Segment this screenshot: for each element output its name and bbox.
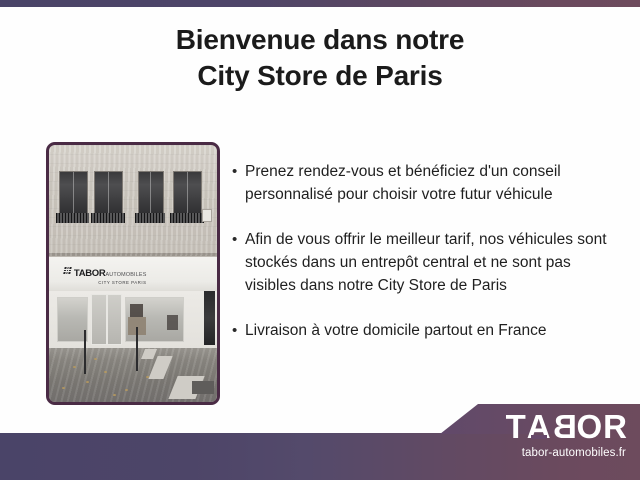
building-window [173,171,202,217]
shop-sign-brand: TABOR [74,268,106,279]
tabor-logo-letter-o: O [576,409,603,445]
shop-fascia: TABORAUTOMOBILES CITY STORE PARIS [49,256,217,294]
balcony-railing [170,213,204,223]
storefront-photo: TABORAUTOMOBILES CITY STORE PARIS [46,142,220,405]
bullet-text: Livraison à votre domicile partout en Fr… [245,319,622,342]
bullet-text: Prenez rendez-vous et bénéficiez d'un co… [245,160,622,206]
shop-sign-text: TABORAUTOMOBILES CITY STORE PARIS [74,264,147,285]
street-bollard [84,330,86,374]
tabor-logo-letter-t: T [506,409,527,445]
title-line-2: City Store de Paris [0,58,640,94]
bullet-list: • Prenez rendez-vous et bénéficiez d'un … [232,160,622,342]
building-window [59,171,88,217]
tabor-dots-icon [63,267,71,274]
building-plaque [202,209,212,221]
title-line-1: Bienvenue dans notre [0,22,640,58]
tabor-logo-letter-b: B [552,409,577,445]
shop-sign-line1: AUTOMOBILES [105,272,146,278]
website-url: tabor-automobiles.fr [506,446,628,460]
bullet-marker: • [232,228,245,251]
balcony-railing [135,213,165,223]
slide: Bienvenue dans notre City Store de Paris [0,0,640,480]
bullet-marker: • [232,319,245,342]
tabor-logo-letter-r: R [603,409,628,445]
shop-interior-box [167,315,179,330]
bullet-marker: • [232,160,245,183]
fallen-leaf [73,366,76,368]
building-window [138,171,164,217]
tabor-logo-wordmark: T A B O R [506,409,628,445]
page-title: Bienvenue dans notre City Store de Paris [0,22,640,94]
fallen-leaf [125,389,128,391]
building-window [94,171,123,217]
top-accent-bar [0,0,640,7]
storefront-photo-image: TABORAUTOMOBILES CITY STORE PARIS [49,145,217,402]
list-item: • Livraison à votre domicile partout en … [232,319,622,342]
bullet-text: Afin de vous offrir le meilleur tarif, n… [245,228,622,297]
street-bollard [136,327,138,371]
shop-door [91,294,122,345]
shop-sign-line2: CITY STORE PARIS [74,281,147,285]
tabor-logo-letter-a: A [527,409,552,445]
gutter-grate [192,381,214,394]
balcony-railing [91,213,125,223]
shop-sign: TABORAUTOMOBILES CITY STORE PARIS [64,264,146,285]
list-item: • Prenez rendez-vous et bénéficiez d'un … [232,160,622,206]
shop-side-panel [204,291,216,345]
shop-interior-screen [130,304,143,317]
tabor-logo: T A B O R tabor-automobiles.fr [506,409,628,460]
list-item: • Afin de vous offrir le meilleur tarif,… [232,228,622,297]
balcony-railing [56,213,90,223]
